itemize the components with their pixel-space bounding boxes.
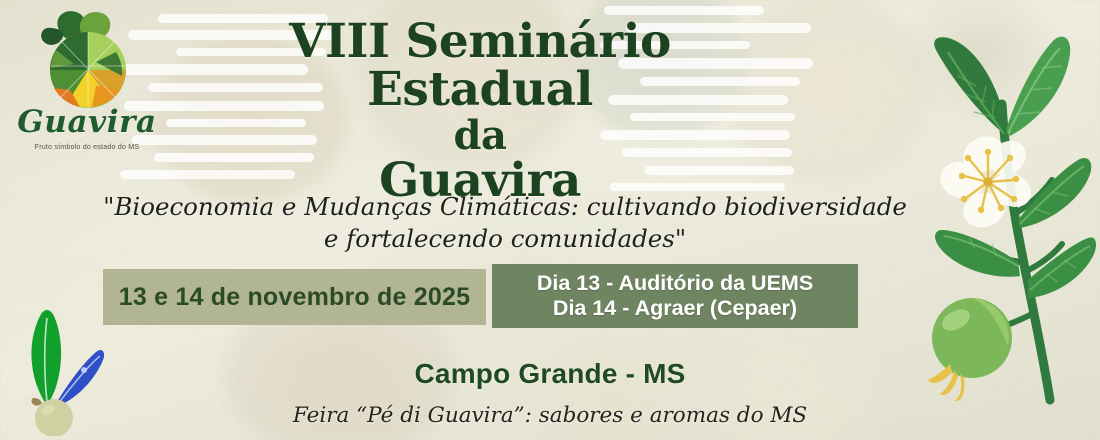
title-line-2: da <box>170 116 790 157</box>
event-city: Campo Grande - MS <box>200 358 900 390</box>
guavira-branch-icon <box>900 8 1096 412</box>
event-date-bar: 13 e 14 de novembro de 2025 <box>103 269 486 325</box>
page-title: VIII Seminário Estadual da Guavira <box>170 18 790 205</box>
logo-wordmark: Guavira <box>12 104 162 140</box>
event-banner: Guavira Fruto símbolo do estado do MS VI… <box>0 0 1100 440</box>
fruit-icon <box>928 298 1012 401</box>
guavira-sprout-icon <box>8 300 116 436</box>
title-line-1: VIII Seminário Estadual <box>170 18 790 114</box>
logo-tagline: Fruto símbolo do estado do MS <box>12 142 162 151</box>
event-date-text: 13 e 14 de novembro de 2025 <box>119 283 470 312</box>
event-theme: "Bioeconomia e Mudanças Climáticas: cult… <box>90 191 920 255</box>
venue-line-1: Dia 13 - Auditório da UEMS <box>537 271 813 296</box>
event-venue-bar: Dia 13 - Auditório da UEMS Dia 14 - Agra… <box>492 264 858 328</box>
theme-line-1: "Bioeconomia e Mudanças Climáticas: cult… <box>90 191 920 223</box>
venue-line-2: Dia 14 - Agraer (Cepaer) <box>553 296 797 321</box>
guavira-fruit-mosaic-logo-icon <box>30 6 144 114</box>
theme-line-2: e fortalecendo comunidades" <box>90 223 920 255</box>
guavira-logo: Guavira Fruto símbolo do estado do MS <box>12 6 162 166</box>
event-fair-text: Feira “Pé di Guavira”: sabores e aromas … <box>150 403 950 428</box>
